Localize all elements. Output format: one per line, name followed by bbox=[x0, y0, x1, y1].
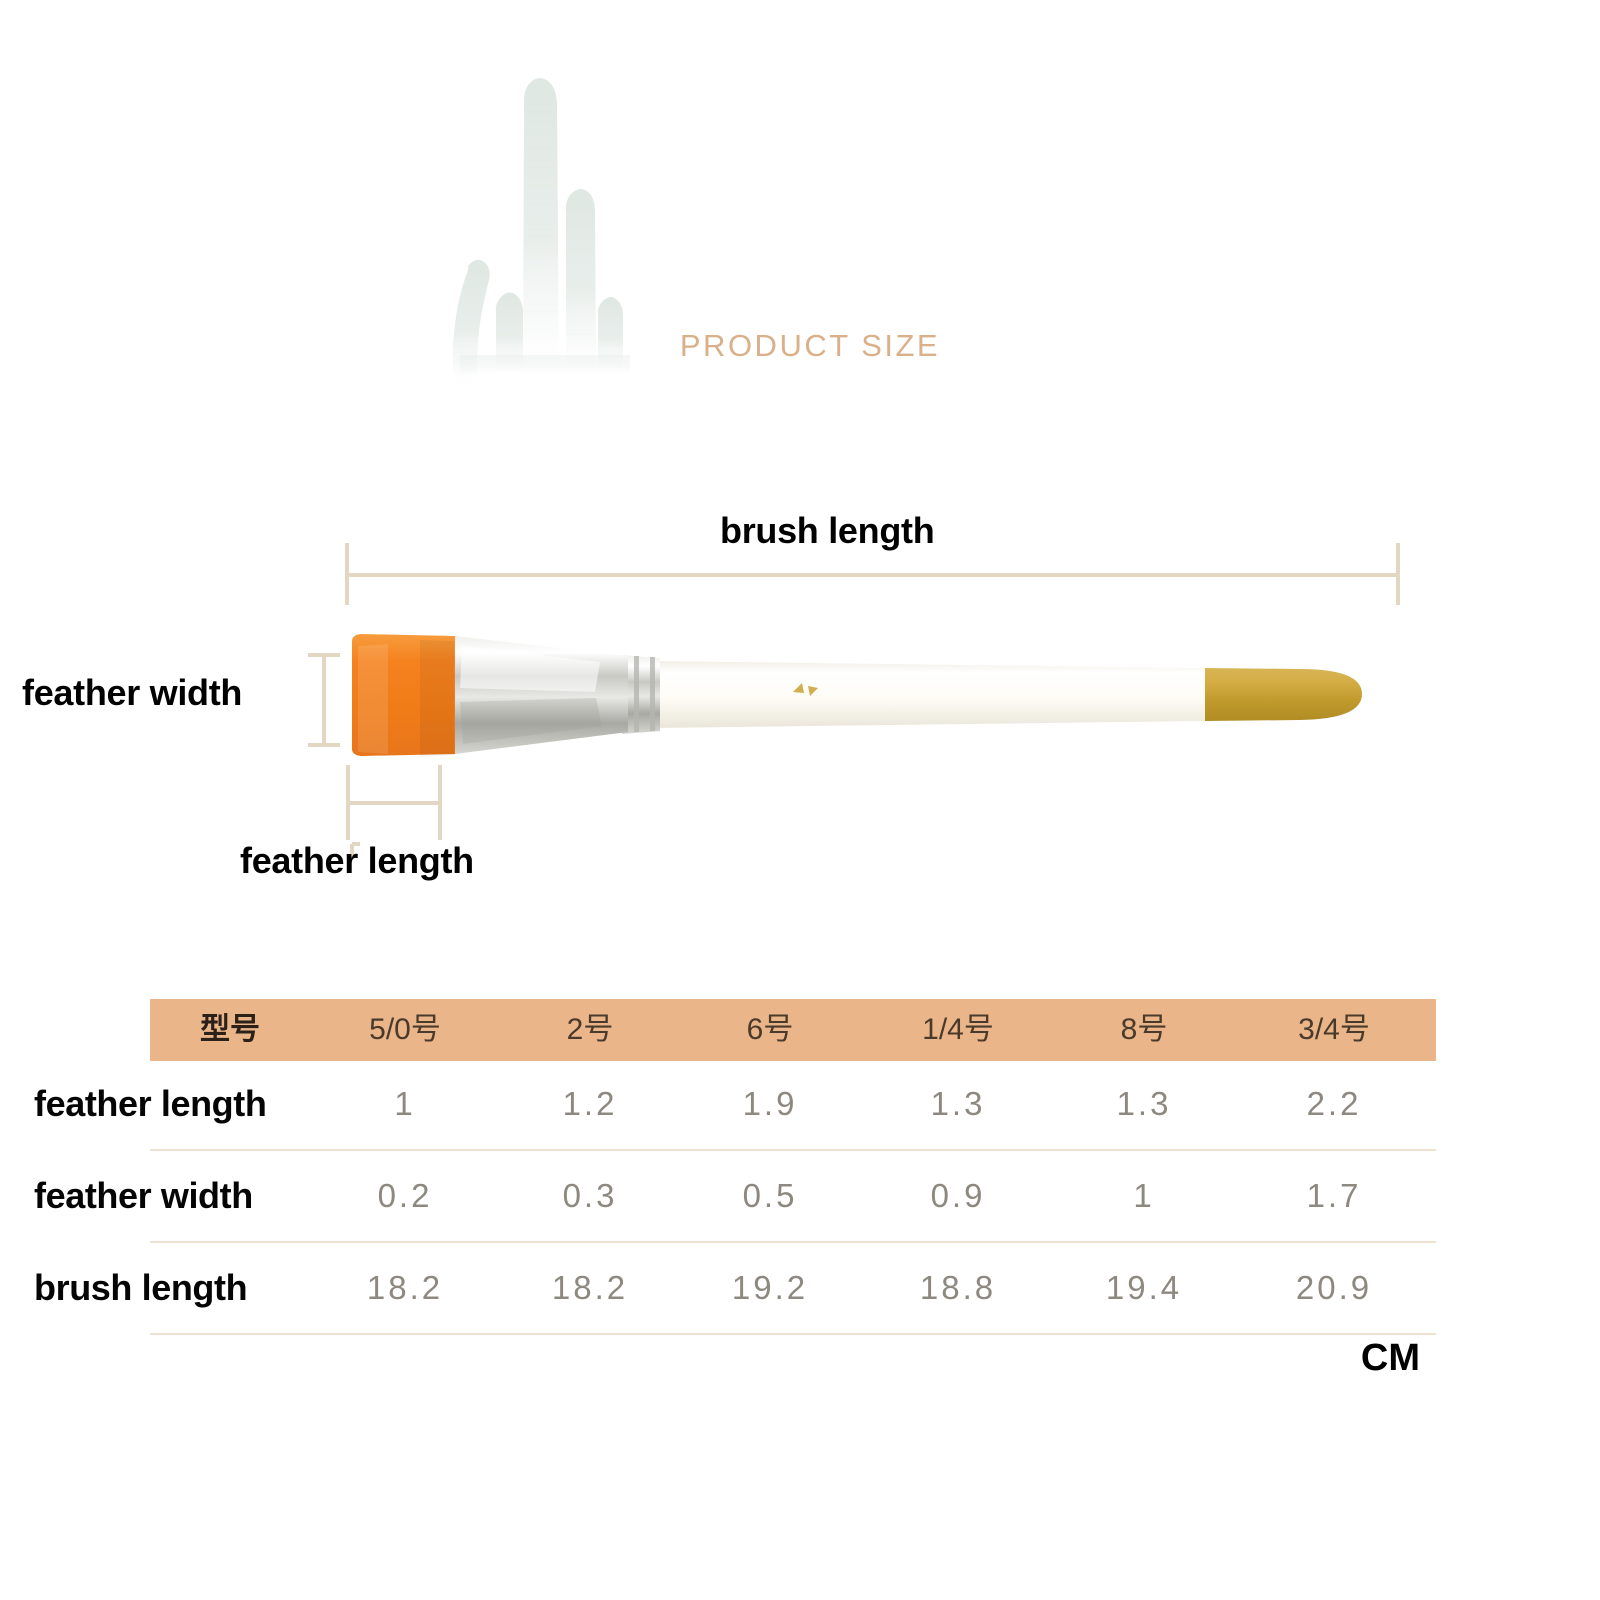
table-header-col-1: 5/0号 bbox=[310, 999, 500, 1061]
table-cell-r1-c1: 0.3 bbox=[500, 1177, 680, 1215]
table-cell-r2-c0: 18.2 bbox=[310, 1269, 500, 1307]
table-cell-r1-c3: 0.9 bbox=[860, 1177, 1056, 1215]
header-band: PRODUCT SIZE bbox=[0, 0, 1600, 430]
feather-length-dimension-label: feather length bbox=[240, 840, 474, 882]
table-row-label-brush-length: brush length bbox=[34, 1267, 247, 1309]
table-header-model: 型号 bbox=[150, 999, 310, 1061]
table-cell-r1-c2: 0.5 bbox=[680, 1177, 860, 1215]
table-row-label-feather-width: feather width bbox=[34, 1175, 253, 1217]
table-cell-r0-c5: 2.2 bbox=[1232, 1085, 1436, 1123]
table-row-separator bbox=[150, 1333, 1436, 1335]
spec-table: 型号 5/0号 2号 6号 1/4号 8号 3/4号 feather lengt… bbox=[0, 985, 1600, 1415]
table-cell-r2-c1: 18.2 bbox=[500, 1269, 680, 1307]
table-cell-r2-c5: 20.9 bbox=[1232, 1269, 1436, 1307]
table-row-separator bbox=[150, 1149, 1436, 1151]
table-header-col-3: 6号 bbox=[680, 999, 860, 1061]
table-cell-r1-c5: 1.7 bbox=[1232, 1177, 1436, 1215]
table-row-separator bbox=[150, 1241, 1436, 1243]
table-header-col-5: 8号 bbox=[1056, 999, 1232, 1061]
table-cell-r1-c0: 0.2 bbox=[310, 1177, 500, 1215]
table-cell-r0-c3: 1.3 bbox=[860, 1085, 1056, 1123]
table-cell-r2-c2: 19.2 bbox=[680, 1269, 860, 1307]
table-cell-r0-c2: 1.9 bbox=[680, 1085, 860, 1123]
table-header-col-6: 3/4号 bbox=[1232, 999, 1436, 1061]
unit-label: CM bbox=[1300, 1337, 1420, 1380]
brush-length-dimension-label: brush length bbox=[720, 510, 934, 552]
table-cell-r2-c4: 19.4 bbox=[1056, 1269, 1232, 1307]
page-title: PRODUCT SIZE bbox=[600, 328, 1020, 364]
table-cell-r0-c1: 1.2 bbox=[500, 1085, 680, 1123]
table-header-col-4: 1/4号 bbox=[860, 999, 1056, 1061]
table-row-label-feather-length: feather length bbox=[34, 1083, 266, 1125]
table-header-col-2: 2号 bbox=[500, 999, 680, 1061]
table-cell-r2-c3: 18.8 bbox=[860, 1269, 1056, 1307]
feather-width-dimension-label: feather width bbox=[22, 672, 242, 714]
table-cell-r1-c4: 1 bbox=[1056, 1177, 1232, 1215]
table-cell-r0-c4: 1.3 bbox=[1056, 1085, 1232, 1123]
table-cell-r0-c0: 1 bbox=[310, 1085, 500, 1123]
